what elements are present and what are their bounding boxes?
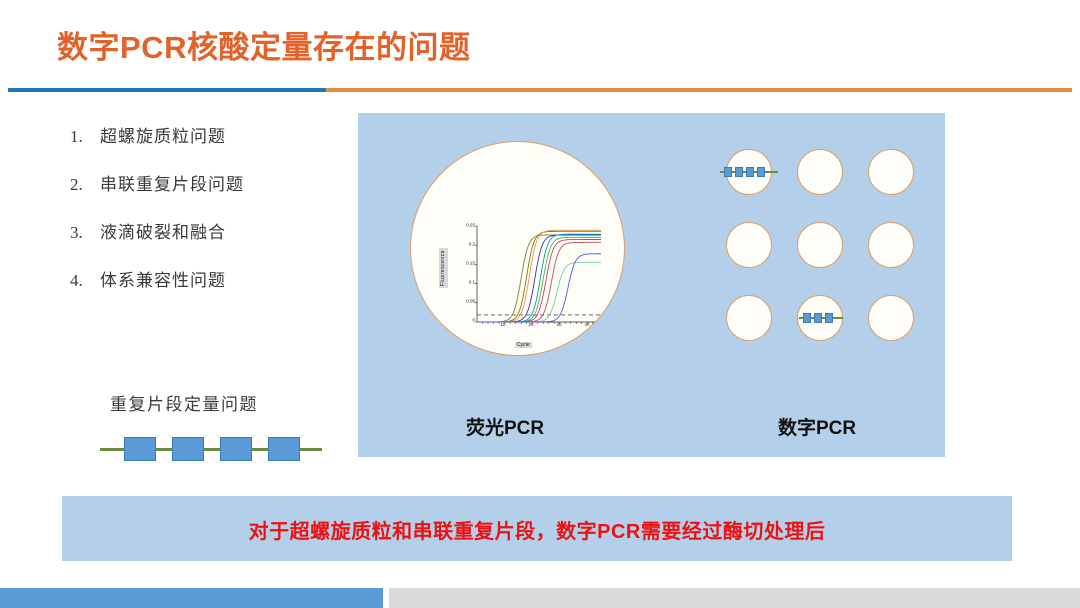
divider-blue [8,88,326,92]
list-item: 1. 超螺旋质粒问题 [70,122,340,147]
list-item: 3. 液滴破裂和融合 [70,218,340,243]
droplet-repeat-unit-box [825,313,833,323]
chart-plot-area [441,220,606,345]
repeat-unit-box [220,437,252,461]
conclusion-text: 对于超螺旋质粒和串联重复片段，数字PCR需要经过酶切处理后 [62,515,1012,544]
conclusion-banner: 对于超螺旋质粒和串联重复片段，数字PCR需要经过酶切处理后 [62,496,1012,561]
list-item: 2. 串联重复片段问题 [70,170,340,195]
problem-list: 1. 超螺旋质粒问题 2. 串联重复片段问题 3. 液滴破裂和融合 4. 体系兼… [70,122,340,314]
droplet-repeat-unit-box [803,313,811,323]
droplet-dna-strand [799,311,843,325]
illustration-panel: Fluorescence Cycle 0 0.05 0.1 0.15 0.2 0… [358,113,945,457]
droplet-repeat-unit-box [724,167,732,177]
dna-strand-diagram [100,437,322,463]
list-item-label: 超螺旋质粒问题 [100,122,226,147]
footer-bar-blue [0,588,383,608]
droplet-dna-strand [720,165,778,179]
caption-digital-pcr: 数字PCR [778,413,856,440]
droplet [797,149,843,195]
list-item-number: 3. [70,223,100,243]
droplet-repeat-unit-box [757,167,765,177]
droplet [797,222,843,268]
droplet [726,222,772,268]
list-item-label: 串联重复片段问题 [100,170,244,195]
divider-orange [326,88,1072,92]
list-item-number: 2. [70,175,100,195]
repeat-unit-box [124,437,156,461]
list-item-label: 液滴破裂和融合 [100,218,226,243]
list-item-number: 1. [70,127,100,147]
caption-fluorescent-pcr: 荧光PCR [466,413,544,440]
droplet-repeat-unit-box [735,167,743,177]
list-item-label: 体系兼容性问题 [100,266,226,291]
page-title: 数字PCR核酸定量存在的问题 [57,22,470,67]
droplet [868,149,914,195]
list-item: 4. 体系兼容性问题 [70,266,340,291]
droplet [868,222,914,268]
droplet [726,295,772,341]
droplet-grid [726,149,914,341]
droplet-repeat-unit-box [746,167,754,177]
droplet-repeat-unit-box [814,313,822,323]
amplification-chart: Fluorescence Cycle 0 0.05 0.1 0.15 0.2 0… [441,220,606,345]
droplet [868,295,914,341]
repeat-unit-box [172,437,204,461]
qpcr-lens-circle: Fluorescence Cycle 0 0.05 0.1 0.15 0.2 0… [410,141,625,356]
repeat-fragment-caption: 重复片段定量问题 [110,390,258,415]
list-item-number: 4. [70,271,100,291]
repeat-unit-box [268,437,300,461]
footer-bar-gray [389,588,1080,608]
